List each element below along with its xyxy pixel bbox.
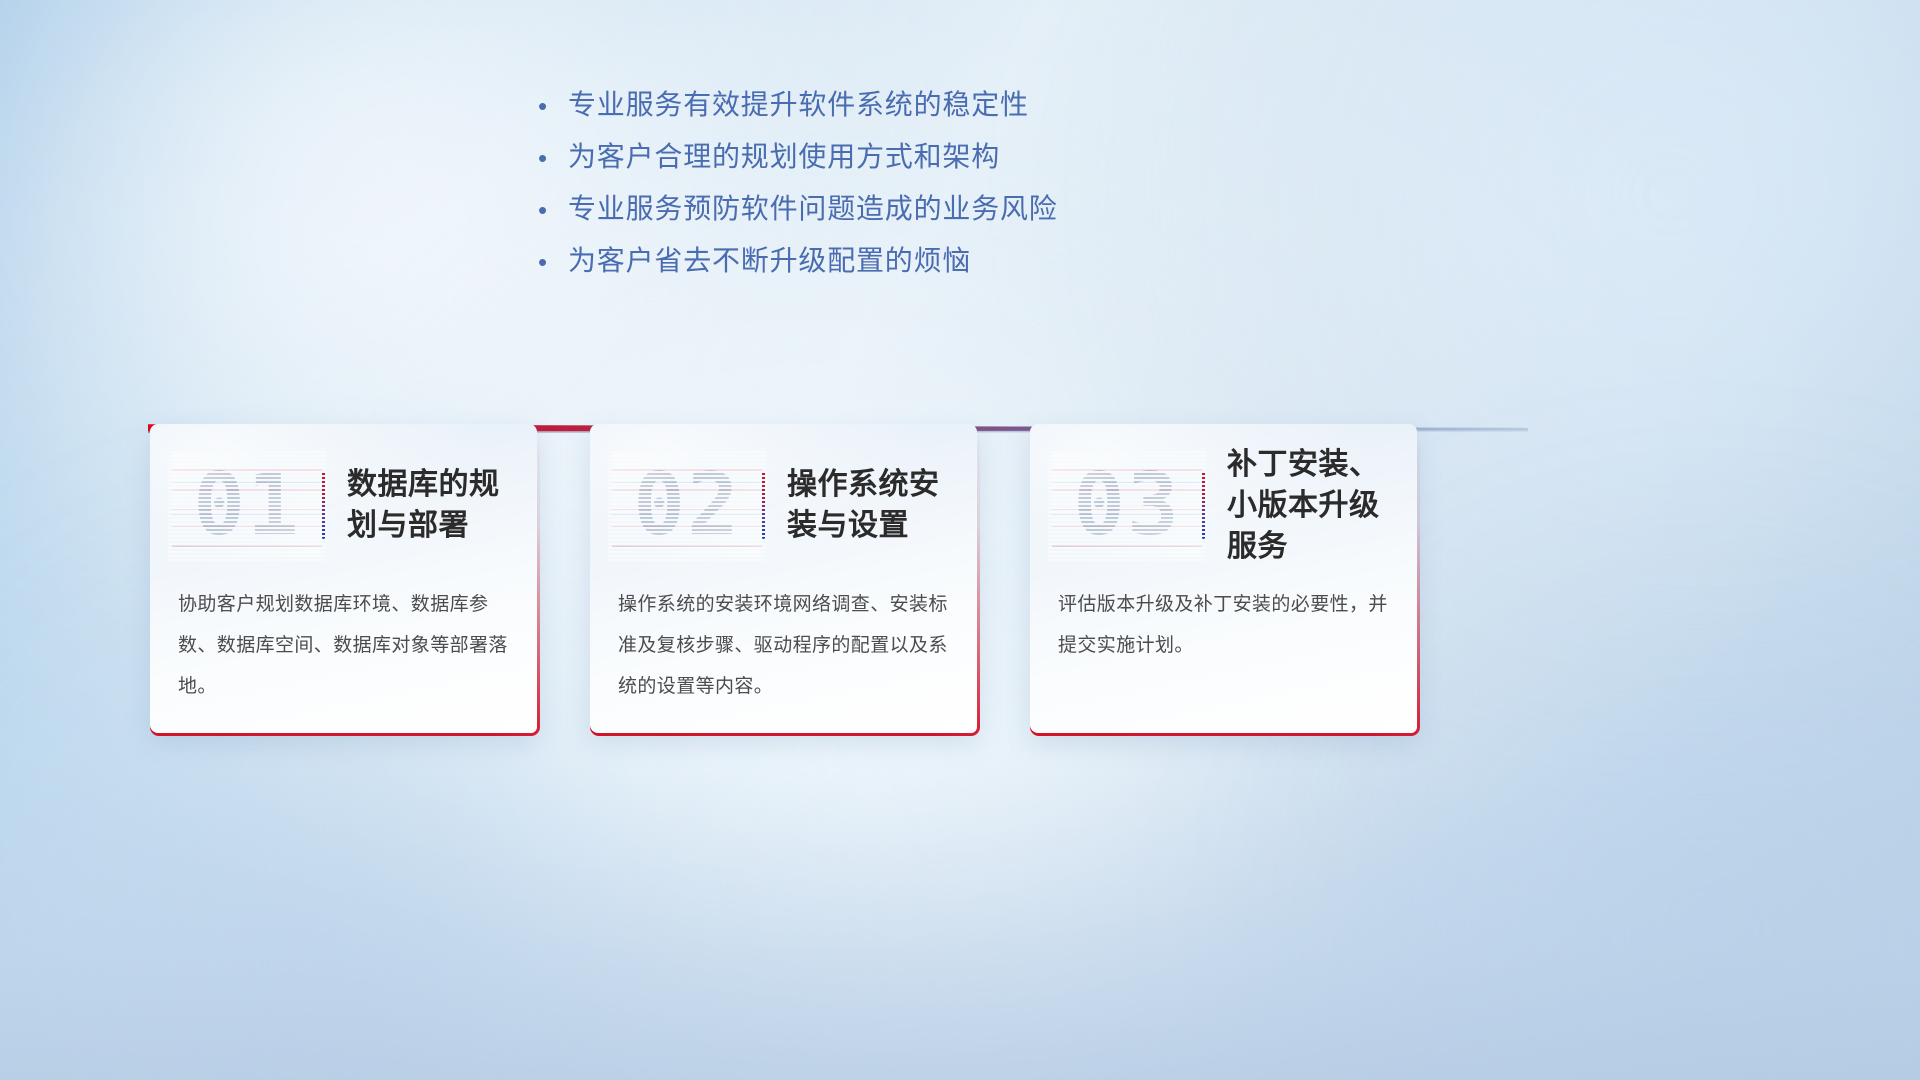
bullet-item: • 专业服务有效提升软件系统的稳定性 (538, 88, 1438, 140)
bullet-item: • 为客户省去不断升级配置的烦恼 (538, 244, 1438, 296)
card-description: 操作系统的安装环境网络调查、安装标准及复核步骤、驱动程序的配置以及系统的设置等内… (618, 584, 951, 707)
bullet-item: • 为客户合理的规划使用方式和架构 (538, 140, 1438, 192)
card-surface: 03 补丁安装、小版本升级服务 评估版本升级及补丁安装的必要性，并提交实施计划。 (1030, 424, 1417, 733)
card-title: 补丁安装、小版本升级服务 (1227, 444, 1417, 567)
bullet-dot-icon: • (538, 192, 568, 227)
service-card[interactable]: 03 补丁安装、小版本升级服务 评估版本升级及补丁安装的必要性，并提交实施计划。 (1030, 424, 1420, 736)
card-title-accent-bar (1202, 471, 1205, 539)
service-cards-row: 01 数据库的规划与部署 协助客户规划数据库环境、数据库参数、数据库空间、数据库… (150, 424, 1550, 744)
card-surface: 02 操作系统安装与设置 操作系统的安装环境网络调查、安装标准及复核步骤、驱动程… (590, 424, 977, 733)
card-title: 操作系统安装与设置 (787, 464, 977, 546)
card-header: 03 补丁安装、小版本升级服务 (1030, 450, 1417, 560)
card-number-watermark: 01 (172, 453, 322, 557)
card-number-label: 02 (633, 453, 741, 557)
service-card[interactable]: 02 操作系统安装与设置 操作系统的安装环境网络调查、安装标准及复核步骤、驱动程… (590, 424, 980, 736)
card-number-label: 03 (1073, 453, 1181, 557)
card-description: 评估版本升级及补丁安装的必要性，并提交实施计划。 (1058, 584, 1391, 666)
bullet-item-label: 专业服务预防软件问题造成的业务风险 (568, 192, 1058, 226)
card-header: 02 操作系统安装与设置 (590, 450, 977, 560)
bullet-dot-icon: • (538, 88, 568, 123)
bullet-item-label: 专业服务有效提升软件系统的稳定性 (568, 88, 1029, 122)
card-number-label: 01 (193, 453, 301, 557)
bullet-item-label: 为客户省去不断升级配置的烦恼 (568, 244, 971, 278)
bullet-dot-icon: • (538, 140, 568, 175)
bullet-dot-icon: • (538, 244, 568, 279)
card-number-watermark: 03 (1052, 453, 1202, 557)
card-title: 数据库的规划与部署 (347, 464, 537, 546)
card-description: 协助客户规划数据库环境、数据库参数、数据库空间、数据库对象等部署落地。 (178, 584, 511, 707)
benefits-bullet-list: • 专业服务有效提升软件系统的稳定性 • 为客户合理的规划使用方式和架构 • 专… (538, 88, 1438, 296)
bullet-item-label: 为客户合理的规划使用方式和架构 (568, 140, 1000, 174)
card-title-accent-bar (762, 471, 765, 539)
card-title-accent-bar (322, 471, 325, 539)
card-surface: 01 数据库的规划与部署 协助客户规划数据库环境、数据库参数、数据库空间、数据库… (150, 424, 537, 733)
card-header: 01 数据库的规划与部署 (150, 450, 537, 560)
card-number-watermark: 02 (612, 453, 762, 557)
bullet-item: • 专业服务预防软件问题造成的业务风险 (538, 192, 1438, 244)
service-card[interactable]: 01 数据库的规划与部署 协助客户规划数据库环境、数据库参数、数据库空间、数据库… (150, 424, 540, 736)
